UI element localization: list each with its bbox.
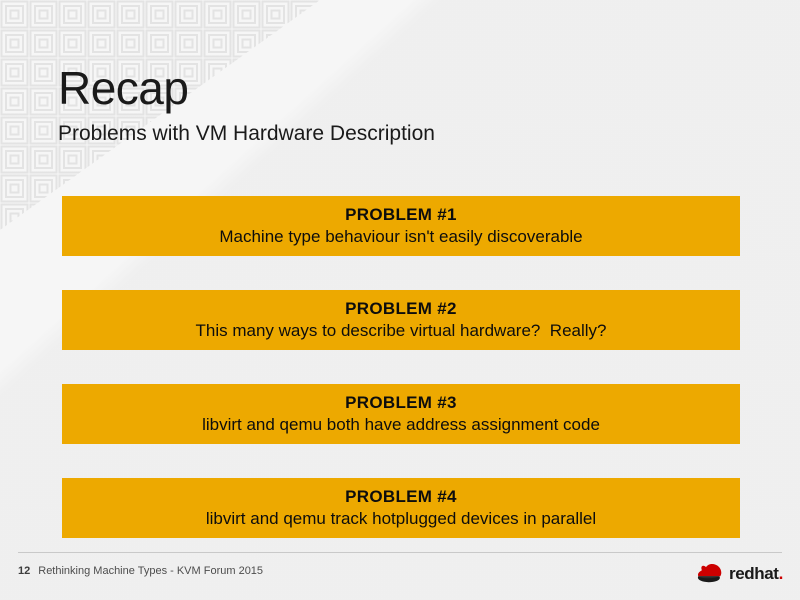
redhat-logo: redhat. (694, 558, 786, 588)
footer: 12 Rethinking Machine Types - KVM Forum … (18, 565, 263, 577)
redhat-wordmark-text: redhat (729, 564, 779, 583)
redhat-wordmark-dot: . (779, 564, 783, 583)
problem-description: This many ways to describe virtual hardw… (195, 320, 606, 342)
footer-page-number: 12 (18, 565, 30, 577)
slide-title: Recap (58, 64, 188, 112)
problem-heading: PROBLEM #1 (345, 204, 457, 225)
problem-heading: PROBLEM #3 (345, 392, 457, 413)
slide-subtitle: Problems with VM Hardware Description (58, 122, 435, 146)
problem-heading: PROBLEM #2 (345, 298, 457, 319)
problem-box: PROBLEM #1 Machine type behaviour isn't … (62, 196, 740, 256)
problem-box: PROBLEM #4 libvirt and qemu track hotplu… (62, 478, 740, 538)
problem-box: PROBLEM #3 libvirt and qemu both have ad… (62, 384, 740, 444)
redhat-fedora-icon (694, 561, 724, 585)
slide-canvas: Recap Problems with VM Hardware Descript… (0, 0, 800, 600)
problem-box: PROBLEM #2 This many ways to describe vi… (62, 290, 740, 350)
footer-divider (18, 552, 782, 553)
problem-heading: PROBLEM #4 (345, 486, 457, 507)
problem-description: Machine type behaviour isn't easily disc… (219, 226, 582, 248)
problem-box-list: PROBLEM #1 Machine type behaviour isn't … (62, 196, 740, 538)
footer-label: Rethinking Machine Types - KVM Forum 201… (38, 565, 263, 577)
redhat-wordmark: redhat. (729, 565, 783, 582)
problem-description: libvirt and qemu both have address assig… (202, 414, 600, 436)
problem-description: libvirt and qemu track hotplugged device… (206, 508, 596, 530)
